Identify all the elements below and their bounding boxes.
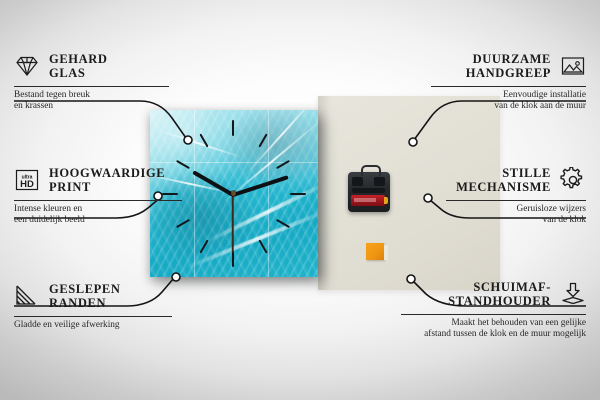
foam-spacer-side: [384, 245, 388, 260]
second-hand: [232, 195, 234, 253]
glass-seam-vertical-right: [268, 110, 269, 277]
feature-subtitle: Gladde en veilige afwerking: [14, 320, 179, 331]
feature-duurzame-handgreep[interactable]: DUURZAME HANDGREEP Eenvoudige installati…: [426, 52, 586, 113]
feature-subtitle: Maakt het behouden van een gelijke afsta…: [396, 318, 586, 341]
feature-rule: [401, 314, 586, 315]
feature-title: GESLEPEN RANDEN: [49, 282, 121, 310]
feature-stille-mechanisme[interactable]: STILLE MECHANISME Geruisloze wijzers van…: [441, 166, 586, 227]
feature-schuimafstandhouder[interactable]: SCHUIMAF- STANDHOUDER Maakt het behouden…: [396, 280, 586, 341]
mechanism-hanger-hook: [361, 165, 381, 176]
arrow-into-pad-icon: [560, 281, 586, 307]
feature-subtitle: Geruisloze wijzers van de klok: [441, 204, 586, 227]
feature-rule: [14, 200, 182, 201]
feature-gehard-glas[interactable]: GEHARD GLAS Bestand tegen breuk en krass…: [14, 52, 174, 113]
tick-3: [290, 193, 306, 195]
feature-subtitle: Eenvoudige installatie van de klok aan d…: [426, 90, 586, 113]
aa-battery: [351, 195, 385, 206]
feature-rule: [446, 200, 586, 201]
feature-title: GEHARD GLAS: [49, 52, 107, 80]
product-feature-infographic: GEHARD GLAS Bestand tegen breuk en krass…: [0, 0, 600, 400]
mechanism-slot-c: [352, 188, 385, 193]
feature-rule: [431, 86, 586, 87]
gear-icon: [560, 167, 586, 193]
battery-positive-cap: [384, 197, 388, 204]
diamond-icon: [14, 53, 40, 79]
feature-title: SCHUIMAF- STANDHOUDER: [448, 280, 551, 308]
hatched-edge-icon: [14, 283, 40, 309]
tick-12: [232, 120, 234, 136]
svg-text:HD: HD: [20, 179, 34, 190]
mechanism-slot-a: [352, 177, 363, 186]
feature-title: HOOGWAARDIGE PRINT: [49, 166, 165, 194]
feature-rule: [14, 316, 172, 317]
ultra-hd-icon: ultra HD: [14, 167, 40, 193]
foam-spacer-pad: [366, 243, 384, 260]
glass-seam-horizontal: [150, 162, 318, 163]
feature-hoogwaardige-print[interactable]: ultra HD HOOGWAARDIGE PRINT Intense kleu…: [14, 166, 189, 227]
tick-6: [232, 251, 234, 267]
feature-title: STILLE MECHANISME: [456, 166, 551, 194]
feature-subtitle: Intense kleuren en een duidelijk beeld: [14, 204, 189, 227]
battery-label: [354, 198, 376, 202]
clock-mechanism: [348, 172, 390, 212]
feature-title: DUURZAME HANDGREEP: [466, 52, 551, 80]
feature-geslepen-randen[interactable]: GESLEPEN RANDEN Gladde en veilige afwerk…: [14, 282, 179, 331]
picture-frame-icon: [560, 53, 586, 79]
feature-rule: [14, 86, 169, 87]
feature-subtitle: Bestand tegen breuk en krassen: [14, 90, 174, 113]
mechanism-slot-b: [374, 177, 385, 186]
clock-hands-pivot: [231, 191, 236, 196]
glass-seam-vertical-left: [194, 110, 195, 277]
